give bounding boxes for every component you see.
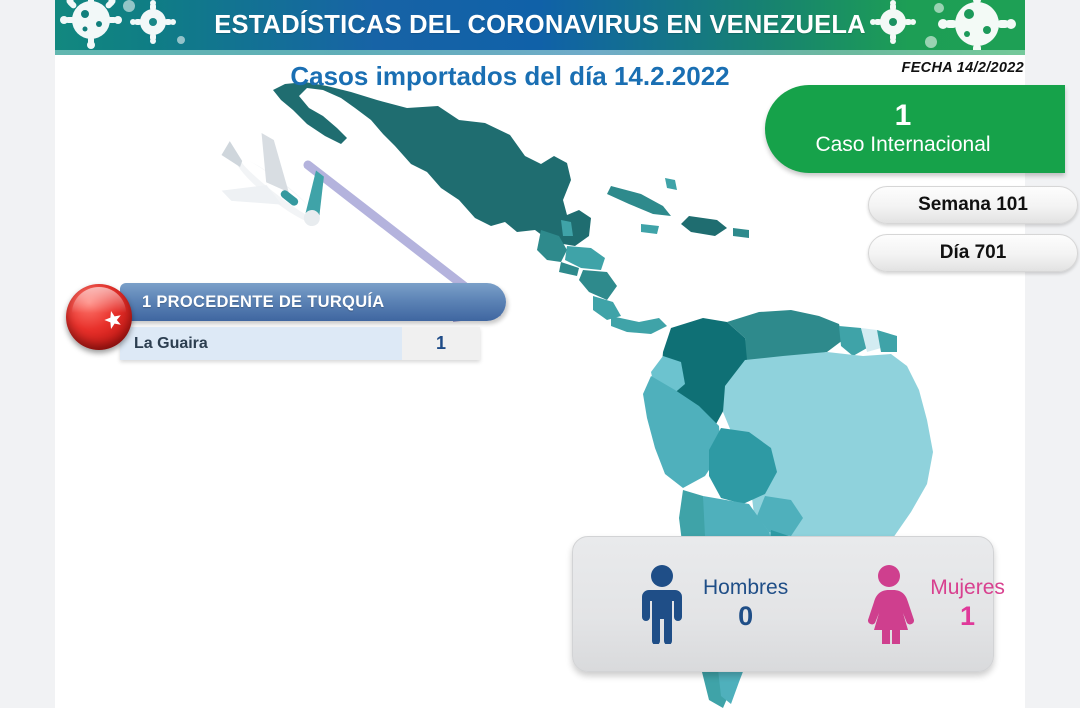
- map-island-hispaniola: [681, 216, 727, 236]
- map-island-cuba: [607, 186, 671, 216]
- gender-men-value: 0: [738, 601, 753, 632]
- fecha-label: FECHA 14/2/2022: [902, 60, 1024, 76]
- origin-state-name: La Guaira: [120, 327, 402, 360]
- week-badge: Semana 101: [868, 186, 1078, 224]
- international-cases-label: Caso Internacional: [815, 132, 990, 158]
- infographic-root: ESTADÍSTICAS DEL CORONAVIRUS EN VENEZUEL…: [0, 0, 1080, 708]
- map-island-puertorico: [733, 228, 749, 238]
- turkey-flag-icon: [66, 284, 132, 350]
- map-country-frenchguiana: [877, 330, 897, 352]
- international-cases-count: 1: [895, 100, 912, 132]
- airplane-icon: [201, 118, 342, 252]
- gender-men-label: Hombres: [703, 576, 788, 600]
- female-figure-icon: [862, 564, 916, 644]
- male-figure-icon: [635, 564, 689, 644]
- map-country-mexico: [273, 82, 591, 246]
- gender-breakdown-panel: Hombres 0 Mujeres 1: [572, 536, 994, 672]
- gender-women-group: Mujeres 1: [862, 564, 1005, 644]
- origin-state-count: 1: [402, 327, 480, 360]
- day-badge: Día 701: [868, 234, 1078, 272]
- international-cases-card: 1 Caso Internacional: [765, 85, 1065, 173]
- header-banner: ESTADÍSTICAS DEL CORONAVIRUS EN VENEZUEL…: [55, 0, 1025, 50]
- origin-country-panel: 1 PROCEDENTE DE TURQUÍA La Guaira 1: [66, 283, 506, 373]
- gender-men-group: Hombres 0: [635, 564, 788, 644]
- banner-title: ESTADÍSTICAS DEL CORONAVIRUS EN VENEZUEL…: [55, 0, 1025, 50]
- gender-men-text: Hombres 0: [703, 576, 788, 631]
- map-country-nicaragua: [579, 270, 617, 300]
- banner-bottom-strip: [55, 50, 1025, 55]
- map-country-panama: [611, 316, 667, 334]
- map-island-jamaica: [641, 224, 659, 234]
- map-island-bahamas: [665, 178, 677, 190]
- gender-women-label: Mujeres: [930, 576, 1005, 600]
- gender-women-value: 1: [960, 601, 975, 632]
- origin-country-title: 1 PROCEDENTE DE TURQUÍA: [120, 283, 506, 321]
- gender-women-text: Mujeres 1: [930, 576, 1005, 631]
- origin-state-row: La Guaira 1: [120, 327, 480, 360]
